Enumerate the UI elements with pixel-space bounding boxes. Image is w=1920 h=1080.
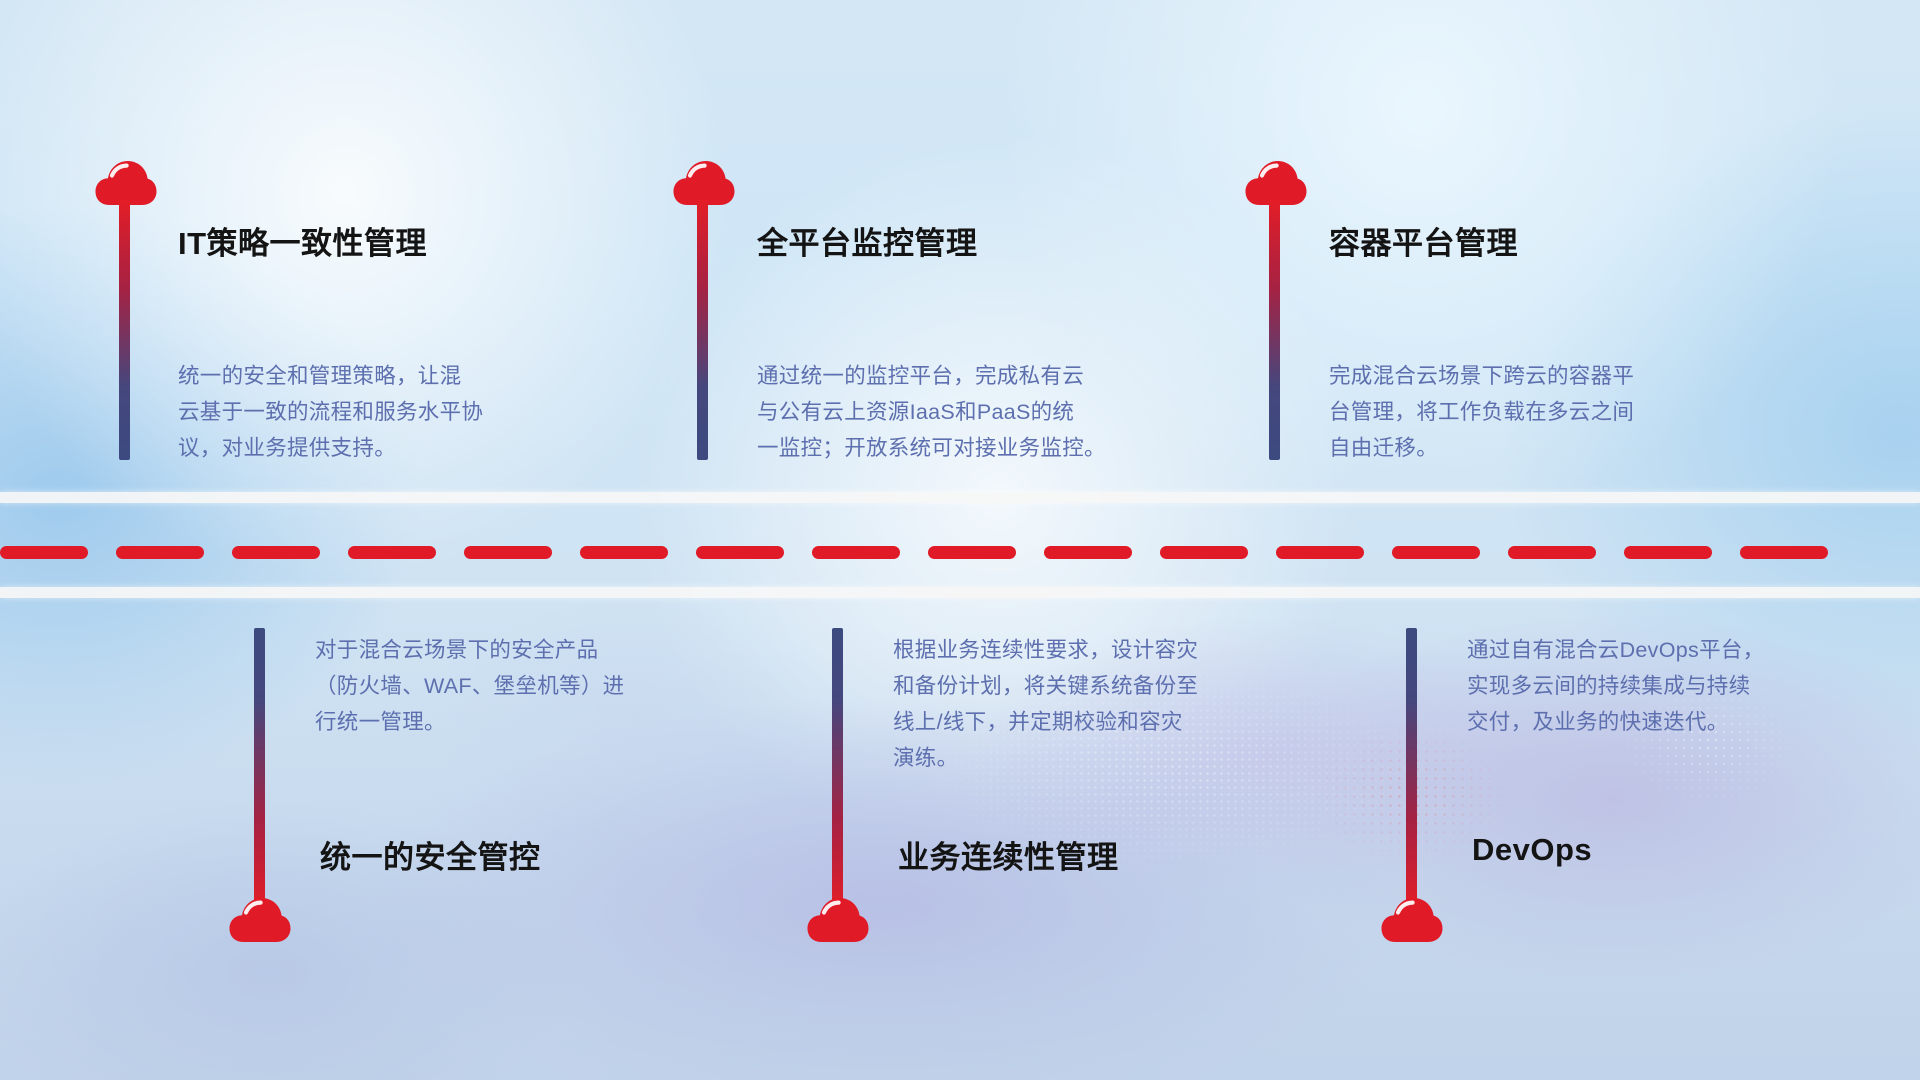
item-title: 业务连续性管理 [898,832,1119,877]
item-body: 根据业务连续性要求，设计容灾 和备份计划，将关键系统备份至 线上/线下，并定期校… [893,632,1323,776]
road-dash [1740,546,1828,559]
road-dash [0,546,88,559]
cloud-icon [1381,897,1443,943]
item-body: 通过统一的监控平台，完成私有云 与公有云上资源IaaS和PaaS的统 一监控；开… [757,358,1207,466]
road-edge-top-line [0,492,1920,503]
item-title: 容器平台管理 [1329,218,1518,263]
road-dash [1044,546,1132,559]
road-dash [232,546,320,559]
connector-stem [832,628,843,910]
connector-stem [1406,628,1417,910]
road-center-dashes [0,545,1920,559]
road-dash [1276,546,1364,559]
connector-stem [119,200,130,460]
road-dash [1508,546,1596,559]
item-title: IT策略一致性管理 [178,218,427,263]
item-body: 对于混合云场景下的安全产品 （防火墙、WAF、堡垒机等）进 行统一管理。 [315,632,745,740]
road-dash [928,546,1016,559]
road-dash [1624,546,1712,559]
road-dash [1392,546,1480,559]
item-title: 统一的安全管控 [320,832,541,877]
road-edge-bottom-line [0,587,1920,598]
road-dash [116,546,204,559]
cloud-icon [807,897,869,943]
item-title: 全平台监控管理 [757,218,978,263]
connector-stem [697,200,708,460]
road-dash [464,546,552,559]
road-dash [580,546,668,559]
road-dash [696,546,784,559]
road-dash [1160,546,1248,559]
cloud-icon [229,897,291,943]
item-body: 统一的安全和管理策略，让混 云基于一致的流程和服务水平协 议，对业务提供支持。 [178,358,608,466]
item-body: 完成混合云场景下跨云的容器平 台管理，将工作负载在多云之间 自由迁移。 [1329,358,1759,466]
road-dash [348,546,436,559]
connector-stem [254,628,265,910]
item-body: 通过自有混合云DevOps平台， 实现多云间的持续集成与持续 交付，及业务的快速… [1467,632,1897,740]
road-dash [812,546,900,559]
connector-stem [1269,200,1280,460]
item-title: DevOps [1472,832,1592,868]
